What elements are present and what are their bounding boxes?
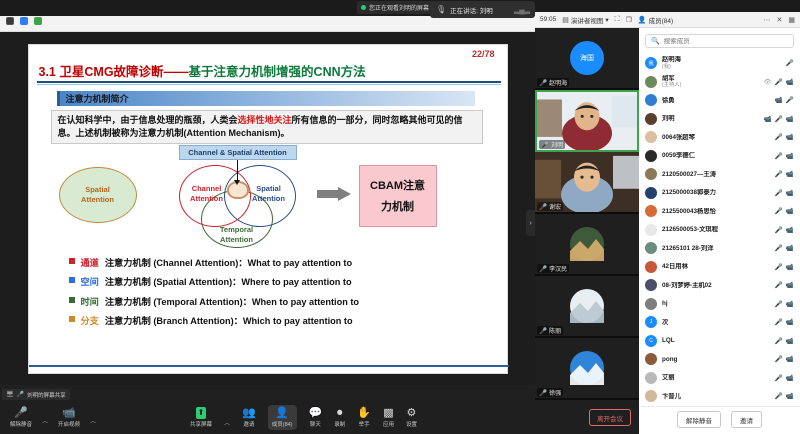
- bullet-square-icon: [69, 277, 75, 283]
- participant-row[interactable]: 胡军(主持人)👁🎤📹: [639, 73, 800, 92]
- info-icon[interactable]: [6, 17, 14, 25]
- avatar: [645, 353, 657, 365]
- participant-status-icons: 🎤📹: [775, 189, 794, 197]
- slide-viewport: 22/78 3.1 卫星CMG故障诊断——基于注意力机制增强的CNN方法 注意力…: [0, 32, 535, 385]
- mic-muted-icon[interactable]: 🎤: [775, 226, 783, 234]
- members-icon: 👤: [275, 407, 289, 419]
- active-speaker-text: 正在讲话: 刘明: [450, 5, 493, 15]
- search-icon: 🔍: [651, 37, 660, 45]
- toolbar-item-record[interactable]: ⏺录制: [334, 407, 345, 428]
- members-count-label: 成员(84): [649, 15, 674, 25]
- mic-muted-icon[interactable]: 🎤: [775, 133, 783, 141]
- video-icon[interactable]: 📹: [786, 374, 794, 382]
- participant-row[interactable]: CLQL🎤📹: [639, 332, 800, 351]
- video-tile-name: 🎤陈丽: [537, 326, 563, 335]
- meeting-timer: 59:05: [540, 16, 556, 23]
- participant-row[interactable]: 2120500027—王涛🎤📹: [639, 165, 800, 184]
- toolbar-item-members[interactable]: 👤成员(84): [268, 405, 297, 430]
- video-tile-name: 🎤谢宏: [537, 202, 563, 211]
- attention-bullet-list: 通道注意力机制 (Channel Attention)：What to pay …: [69, 255, 499, 333]
- avatar: [645, 224, 657, 236]
- members-count-button[interactable]: 👤 成员(84): [638, 15, 673, 25]
- participant-name: 2125500043杨思怡: [662, 208, 770, 216]
- video-icon[interactable]: 📹: [786, 263, 794, 271]
- slide-paragraph: 在认知科学中，由于信息处理的瓶颈，人类会选择性地关注所有信息的一部分，同时忽略其…: [51, 110, 483, 144]
- participant-status-icons: 🎤📹: [775, 355, 794, 363]
- raise-hand-icon: ✋: [357, 407, 371, 419]
- mic-icon: 🎙: [436, 5, 446, 14]
- video-tile-name: 🎤李汉民: [537, 264, 569, 273]
- avatar: [645, 390, 657, 402]
- participant-status-icons: 👁🎤📹: [764, 78, 794, 86]
- mic-options-caret-icon[interactable]: ︿: [42, 416, 48, 425]
- participant-names: 胡军(主持人): [662, 75, 759, 89]
- bullet-square-icon: [69, 297, 75, 303]
- mic-muted-icon[interactable]: 🎤: [775, 374, 783, 382]
- bullet-item: 通道注意力机制 (Channel Attention)：What to pay …: [69, 255, 499, 269]
- mic-muted-icon[interactable]: 🎤: [775, 189, 783, 197]
- slide-bottom-rule: [29, 365, 509, 367]
- participant-names: 赵明海(我): [662, 56, 781, 70]
- mic-on-icon: 🎤: [541, 141, 549, 149]
- bullet-item: 分支注意力机制 (Branch Attention)：Which to pay …: [69, 313, 499, 327]
- more-icon[interactable]: ⋯: [764, 16, 771, 24]
- participant-avatar-image: [570, 227, 604, 261]
- video-tile-label: 陈丽: [549, 326, 561, 335]
- avatar: [645, 205, 657, 217]
- participant-name: 艾丽: [662, 374, 770, 382]
- avatar: C: [645, 335, 657, 347]
- video-icon[interactable]: 📹: [786, 133, 794, 141]
- participant-list[interactable]: 我赵明海(我)🎤胡军(主持人)👁🎤📹徐勇📹🎤刘明📹🎤📹0064张超琴🎤📹0059…: [639, 54, 800, 406]
- toolbar-center-group: ⬆共享屏幕︿👥邀请👤成员(84)💬聊天⏺录制✋举手▩应用⚙设置: [190, 405, 417, 430]
- mic-muted-icon[interactable]: 🎤: [786, 59, 794, 67]
- participants-panel-footer: 解除静音 邀请: [639, 406, 800, 432]
- participant-role: (主持人): [662, 82, 759, 89]
- video-icon[interactable]: 📹: [764, 115, 772, 123]
- participant-name: 徐勇: [662, 97, 770, 105]
- avatar: [645, 298, 657, 310]
- participant-status-icons: 🎤📹: [775, 133, 794, 141]
- avatar: [645, 187, 657, 199]
- mic-muted-icon: 🎤: [539, 265, 547, 273]
- os-tray-icons: [6, 17, 42, 25]
- participant-status-icons: 🎤📹: [775, 207, 794, 215]
- toolbar-right-group: 离开会议: [589, 408, 639, 427]
- bullet-text: 注意力机制 (Temporal Attention)：When to pay a…: [105, 294, 359, 308]
- video-icon[interactable]: 📹: [786, 115, 794, 123]
- participant-name: 21265101 28-刘洋: [662, 245, 770, 253]
- video-tile-name: 🎤徐强: [537, 388, 563, 397]
- chevron-down-icon: ▾: [605, 16, 608, 24]
- toolbar-item-label: 邀请: [243, 420, 254, 428]
- bullet-text: 注意力机制 (Spatial Attention)：Where to pay a…: [105, 274, 352, 288]
- toolbar-item-label: 录制: [334, 420, 345, 428]
- screen-share-host-bar: 🖥 🎤 刘明的屏幕共享: [2, 389, 70, 400]
- video-tile[interactable]: 🎤陈丽: [535, 276, 639, 338]
- participant-status-icons: 🎤📹: [775, 263, 794, 271]
- participant-status-icons: 🎤📹: [775, 170, 794, 178]
- invite-icon: 👥: [242, 407, 256, 419]
- participant-status-icons: 🎤📹: [775, 318, 794, 326]
- participant-status-icons: 🎤📹: [775, 300, 794, 308]
- mic-muted-icon: 🎤: [539, 79, 547, 87]
- participant-row[interactable]: 0059李德仁🎤📹: [639, 147, 800, 166]
- video-tile-name: 🎤赵明海: [537, 78, 569, 87]
- mic-muted-icon: 🎤: [539, 327, 547, 335]
- mic-muted-icon[interactable]: 🎤: [775, 207, 783, 215]
- participant-row[interactable]: 卞普儿🎤📹: [639, 387, 800, 406]
- powerpoint-ribbon: [0, 16, 535, 32]
- participant-row[interactable]: hj🎤📹: [639, 295, 800, 314]
- participant-name: 2125000038郭泰力: [662, 189, 770, 197]
- right-arrow-icon: [317, 187, 351, 201]
- mic-muted-icon: 🎤: [14, 407, 28, 419]
- video-tile[interactable]: 🎤徐强: [535, 338, 639, 400]
- section-band: 注意力机制简介: [57, 91, 475, 106]
- video-icon[interactable]: 📹: [775, 96, 783, 104]
- ellipse-spatial-label: SpatialAttention: [252, 184, 285, 203]
- presentation-slide: 22/78 3.1 卫星CMG故障诊断——基于注意力机制增强的CNN方法 注意力…: [28, 44, 508, 374]
- participant-name: pong: [662, 356, 770, 364]
- mic-muted-icon[interactable]: 🎤: [775, 244, 783, 252]
- avatar: [645, 94, 657, 106]
- video-tile-label: 赵明海: [549, 78, 567, 87]
- participant-row[interactable]: 2125500043杨思怡🎤📹: [639, 202, 800, 221]
- callout-arrow-icon: [237, 160, 239, 182]
- mic-muted-icon[interactable]: 🎤: [775, 300, 783, 308]
- participant-row[interactable]: 0064张超琴🎤📹: [639, 128, 800, 147]
- fullscreen-icon[interactable]: ⛶: [615, 16, 620, 24]
- unmute-all-button[interactable]: 解除静音: [677, 411, 721, 428]
- participant-avatar: 海国: [570, 41, 604, 75]
- video-tile-label: 徐强: [549, 388, 561, 397]
- video-tile-label: 李汉民: [549, 264, 567, 273]
- section-band-label: 注意力机制简介: [66, 92, 129, 105]
- participant-names: 2125500043杨思怡: [662, 208, 770, 216]
- video-icon[interactable]: 📹: [786, 244, 794, 252]
- share-status-dot: [361, 5, 366, 10]
- toolbar-item-invite[interactable]: 👥邀请: [242, 407, 256, 428]
- video-icon[interactable]: 📹: [786, 170, 794, 178]
- active-speaker-pill: 🎙 正在讲话: 刘明 ▂▄▂: [430, 1, 535, 18]
- video-icon[interactable]: 📹: [786, 300, 794, 308]
- mic-on-icon[interactable]: 🎤: [775, 115, 783, 123]
- participant-name: LQL: [662, 337, 770, 345]
- toolbar-item-chat[interactable]: 💬聊天: [309, 407, 323, 428]
- slide-title-number: 3.1: [39, 65, 56, 79]
- mic-muted-icon: 🎤: [539, 203, 547, 211]
- ellipse-channel-label: ChannelAttention: [190, 184, 223, 203]
- participant-names: LQL: [662, 337, 770, 345]
- settings-icon: ⚙: [407, 407, 417, 419]
- participant-names: 艾丽: [662, 374, 770, 382]
- apps-icon: ▩: [383, 407, 393, 419]
- paragraph-part-1: 在认知科学中，由于信息处理的瓶颈，人类会: [58, 115, 238, 125]
- bullet-square-icon: [69, 316, 75, 322]
- video-icon[interactable]: 📹: [786, 152, 794, 160]
- bullet-item: 空间注意力机制 (Spatial Attention)：Where to pay…: [69, 274, 499, 288]
- title-divider: [37, 81, 501, 83]
- mic-muted-icon[interactable]: 🎤: [775, 392, 783, 400]
- chat-icon: 💬: [309, 407, 323, 419]
- search-input[interactable]: [664, 38, 788, 45]
- avatar: [645, 113, 657, 125]
- video-icon[interactable]: 📹: [786, 337, 794, 345]
- cbam-line-1: CBAM注意: [370, 177, 425, 193]
- participant-status-icons: 🎤📹: [775, 244, 794, 252]
- slide-title: 3.1 卫星CMG故障诊断——基于注意力机制增强的CNN方法: [39, 61, 499, 80]
- participant-name: 刘明: [662, 115, 759, 123]
- video-tile-label: 刘明: [551, 140, 563, 149]
- participant-row[interactable]: 2126500053-文琪程🎤📹: [639, 221, 800, 240]
- leave-meeting-button[interactable]: 离开会议: [589, 409, 631, 426]
- participant-row[interactable]: 2125000038郭泰力🎤📹: [639, 184, 800, 203]
- participant-row[interactable]: 艾丽🎤📹: [639, 369, 800, 388]
- avatar: [645, 242, 657, 254]
- participant-names: 2125000038郭泰力: [662, 189, 770, 197]
- video-icon[interactable]: 📹: [786, 392, 794, 400]
- participant-row[interactable]: 21265101 28-刘洋🎤📹: [639, 239, 800, 258]
- view-mode-button[interactable]: ▤ 演讲者视图 ▾: [562, 15, 608, 25]
- bullet-keyword: 通道: [81, 255, 99, 269]
- share-options-caret-icon[interactable]: ︿: [224, 418, 230, 427]
- slide-title-part-a: 卫星CMG故障诊断——: [59, 65, 188, 79]
- toolbar-item-label: 举手: [359, 420, 370, 428]
- participants-panel: 🔍 我赵明海(我)🎤胡军(主持人)👁🎤📹徐勇📹🎤刘明📹🎤📹0064张超琴🎤📹00…: [639, 28, 800, 434]
- unmute-label: 解除静音: [10, 420, 32, 428]
- mic-muted-icon[interactable]: 🎤: [775, 337, 783, 345]
- toolbar-item-settings[interactable]: ⚙设置: [406, 407, 417, 428]
- avatar: [645, 372, 657, 384]
- participant-names: 42日用林: [662, 263, 770, 271]
- participant-names: 次: [662, 319, 770, 327]
- start-video-toolbar-button[interactable]: 📹 开启视频: [58, 407, 80, 428]
- video-tile[interactable]: 🎤刘明: [535, 90, 639, 152]
- participant-status-icons: 🎤: [786, 59, 794, 67]
- participant-names: 2126500053-文琪程: [662, 226, 770, 234]
- video-icon[interactable]: 📹: [786, 207, 794, 215]
- participant-names: 徐勇: [662, 97, 770, 105]
- attention-venn-diagram: Channel & Spatial Attention SpatialAtten…: [29, 145, 509, 250]
- video-tile-name: 🎤刘明: [539, 140, 565, 149]
- avatar: [645, 168, 657, 180]
- participant-name: hj: [662, 300, 770, 308]
- invite-button[interactable]: 邀请: [731, 411, 762, 428]
- meeting-window-bar: 59:05 ▤ 演讲者视图 ▾ ⛶ ❐ 👤 成员(84) ⋯ ✕ ▦: [535, 12, 800, 28]
- mic-muted-icon[interactable]: 🎤: [775, 281, 783, 289]
- participant-status-icons: 🎤📹: [775, 337, 794, 345]
- participant-name: 2126500053-文琪程: [662, 226, 770, 234]
- participant-status-icons: 🎤📹: [775, 392, 794, 400]
- avatar: [645, 279, 657, 291]
- cbam-line-2: 力机制: [381, 198, 414, 214]
- participant-row[interactable]: J次🎤📹: [639, 313, 800, 332]
- zoom-meeting-window: 您正在观看刘明的屏幕 ⠿ 🎙 正在讲话: 刘明 ▂▄▂ ☁ 放映中 22/78 …: [0, 0, 800, 434]
- toolbar-item-raise-hand[interactable]: ✋举手: [357, 407, 371, 428]
- video-off-icon: 📹: [62, 407, 76, 419]
- bullet-text: 注意力机制 (Channel Attention)：What to pay at…: [105, 255, 352, 269]
- video-icon[interactable]: 📹: [786, 189, 794, 197]
- participant-names: 08-刘梦婷-主机02: [662, 282, 770, 290]
- participant-row[interactable]: pong🎤📹: [639, 350, 800, 369]
- video-tile-label: 谢宏: [549, 202, 561, 211]
- bullet-text: 注意力机制 (Branch Attention)：Which to pay at…: [105, 313, 353, 327]
- participant-role: (我): [662, 64, 781, 71]
- ellipse-spatial-left-label: SpatialAttention: [81, 185, 114, 204]
- bullet-keyword: 时间: [81, 294, 99, 308]
- video-icon[interactable]: 📹: [786, 226, 794, 234]
- participant-name: 0064张超琴: [662, 134, 770, 142]
- participant-row[interactable]: 刘明📹🎤📹: [639, 110, 800, 129]
- toolbar-item-label: 应用: [383, 420, 394, 428]
- video-thumbnail-strip[interactable]: 海国🎤赵明海 🎤刘明 🎤谢宏 🎤李汉民 🎤陈丽 🎤徐强: [535, 28, 639, 400]
- video-tile[interactable]: 海国🎤赵明海: [535, 28, 639, 90]
- participant-names: 刘明: [662, 115, 759, 123]
- video-icon[interactable]: 📹: [786, 78, 794, 86]
- toolbar-item-share-screen[interactable]: ⬆共享屏幕: [190, 407, 212, 428]
- video-label: 开启视频: [58, 420, 80, 428]
- close-icon[interactable]: ✕: [777, 16, 783, 24]
- participant-names: hj: [662, 300, 770, 308]
- shield-icon[interactable]: [20, 17, 28, 25]
- toolbar-item-label: 共享屏幕: [190, 420, 212, 428]
- participant-row[interactable]: 42日用林🎤📹: [639, 258, 800, 277]
- video-icon[interactable]: 📹: [786, 355, 794, 363]
- video-tile[interactable]: 🎤谢宏: [535, 152, 639, 214]
- mic-muted-icon[interactable]: 🎤: [775, 355, 783, 363]
- participant-name: 0059李德仁: [662, 152, 770, 160]
- avatar: [645, 76, 657, 88]
- meeting-toolbar: 🎤 解除静音 ︿ 📹 开启视频 ︿ ⬆共享屏幕︿👥邀请👤成员(84)💬聊天⏺录制…: [0, 400, 639, 434]
- mic-muted-icon[interactable]: 🎤: [775, 318, 783, 326]
- participant-status-icons: 🎤📹: [775, 281, 794, 289]
- participant-names: 卞普儿: [662, 393, 770, 401]
- bullet-square-icon: [69, 258, 75, 264]
- participant-name: 次: [662, 319, 770, 327]
- toolbar-item-apps[interactable]: ▩应用: [383, 407, 394, 428]
- toolbar-left-group: 🎤 解除静音 ︿ 📹 开启视频 ︿: [0, 407, 190, 428]
- collapse-video-strip-button[interactable]: ›: [526, 210, 535, 236]
- participant-names: 2120500027—王涛: [662, 171, 770, 179]
- signal-icon[interactable]: [34, 17, 42, 25]
- participant-status-icons: 🎤📹: [775, 226, 794, 234]
- video-options-caret-icon[interactable]: ︿: [90, 416, 96, 425]
- participant-row[interactable]: 08-刘梦婷-主机02🎤📹: [639, 276, 800, 295]
- participant-row[interactable]: 徐勇📹🎤: [639, 91, 800, 110]
- participant-status-icons: 📹🎤: [775, 96, 794, 104]
- mic-on-icon[interactable]: 🎤: [775, 78, 783, 86]
- screen-icon: 🖥: [6, 391, 14, 398]
- sound-wave-icon: ▂▄▂: [514, 5, 529, 14]
- participant-names: 0059李德仁: [662, 152, 770, 160]
- avatar: [645, 131, 657, 143]
- cbam-result-box: CBAM注意 力机制: [359, 165, 437, 227]
- host-bar-label: 刘明的屏幕共享: [27, 391, 66, 399]
- unmute-toolbar-button[interactable]: 🎤 解除静音: [10, 407, 32, 428]
- participant-name: 2120500027—王涛: [662, 171, 770, 179]
- participant-avatar-image: [570, 351, 604, 385]
- menu-icon[interactable]: ▦: [788, 16, 795, 24]
- participant-names: 0064张超琴: [662, 134, 770, 142]
- participant-name: 42日用林: [662, 263, 770, 271]
- members-icon: 👤: [638, 16, 647, 24]
- participant-row[interactable]: 我赵明海(我)🎤: [639, 54, 800, 73]
- bullet-item: 时间注意力机制 (Temporal Attention)：When to pay…: [69, 294, 499, 308]
- layout-icon: ▤: [562, 16, 569, 24]
- mic-muted-icon[interactable]: 🎤: [775, 263, 783, 271]
- bullet-keyword: 分支: [81, 313, 99, 327]
- avatar: [645, 150, 657, 162]
- record-icon: ⏺: [337, 407, 343, 419]
- mic-muted-icon[interactable]: 🎤: [775, 170, 783, 178]
- ellipse-spatial-left: SpatialAttention: [59, 167, 137, 223]
- share-banner-text: 您正在观看刘明的屏幕: [369, 3, 429, 12]
- view-mode-label: 演讲者视图: [571, 15, 604, 25]
- participant-avatar-image: [570, 289, 604, 323]
- title-divider-light: [37, 84, 501, 85]
- slide-page-number: 22/78: [472, 49, 495, 59]
- avatar: J: [645, 316, 657, 328]
- window-icon[interactable]: ❐: [626, 16, 632, 24]
- mic-muted-icon: 🎤: [539, 389, 547, 397]
- participant-name: 卞普儿: [662, 393, 770, 401]
- toolbar-item-label: 设置: [406, 420, 417, 428]
- share-screen-icon: ⬆: [196, 407, 207, 419]
- channel-spatial-callout: Channel & Spatial Attention: [179, 145, 297, 160]
- eye-icon[interactable]: 👁: [764, 78, 772, 86]
- participant-names: 21265101 28-刘洋: [662, 245, 770, 253]
- toolbar-item-label: 成员(84): [272, 420, 293, 428]
- participant-name: 赵明海: [662, 56, 781, 64]
- paragraph-highlight: 选择性地关注: [238, 115, 292, 125]
- slide-title-part-b: 基于注意力机制增强的CNN方法: [189, 65, 366, 79]
- participant-status-icons: 🎤📹: [775, 374, 794, 382]
- mic-muted-icon[interactable]: 🎤: [786, 96, 794, 104]
- toolbar-item-label: 聊天: [310, 420, 321, 428]
- participant-name: 08-刘梦婷-主机02: [662, 282, 770, 290]
- bullet-keyword: 空间: [81, 274, 99, 288]
- video-icon[interactable]: 📹: [786, 318, 794, 326]
- participant-status-icons: 🎤📹: [775, 152, 794, 160]
- participant-search[interactable]: 🔍: [645, 34, 794, 48]
- video-tile[interactable]: 🎤李汉民: [535, 214, 639, 276]
- avatar: [645, 261, 657, 273]
- mic-muted-icon[interactable]: 🎤: [775, 152, 783, 160]
- participant-status-icons: 📹🎤📹: [764, 115, 794, 123]
- ellipse-temporal-label: TemporalAttention: [220, 225, 253, 244]
- video-icon[interactable]: 📹: [786, 281, 794, 289]
- avatar: 我: [645, 57, 657, 69]
- participant-names: pong: [662, 356, 770, 364]
- mic-icon: 🎤: [17, 391, 24, 398]
